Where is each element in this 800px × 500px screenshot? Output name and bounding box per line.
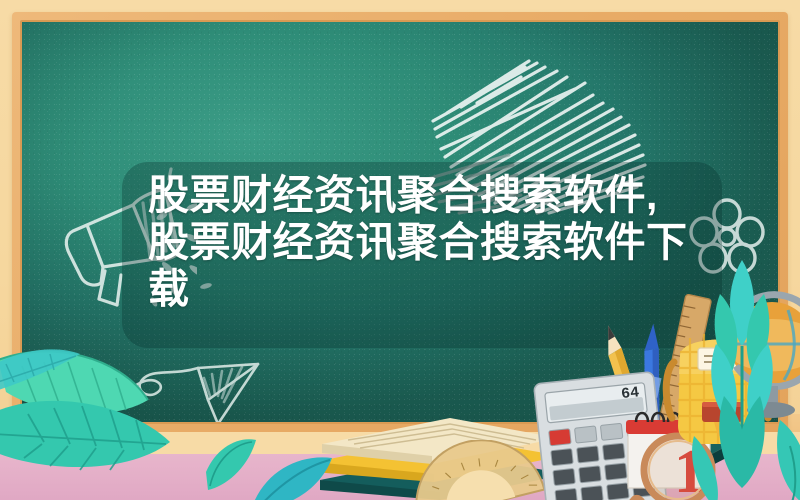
leaves-right bbox=[680, 250, 800, 500]
page-title: 股票财经资讯聚合搜索软件,股票财经资讯聚合搜索软件下载 bbox=[148, 172, 688, 313]
poster-canvas: 股票财经资讯聚合搜索软件,股票财经资讯聚合搜索软件下载 bbox=[0, 0, 800, 500]
leaf-small-bottom bbox=[250, 452, 340, 500]
